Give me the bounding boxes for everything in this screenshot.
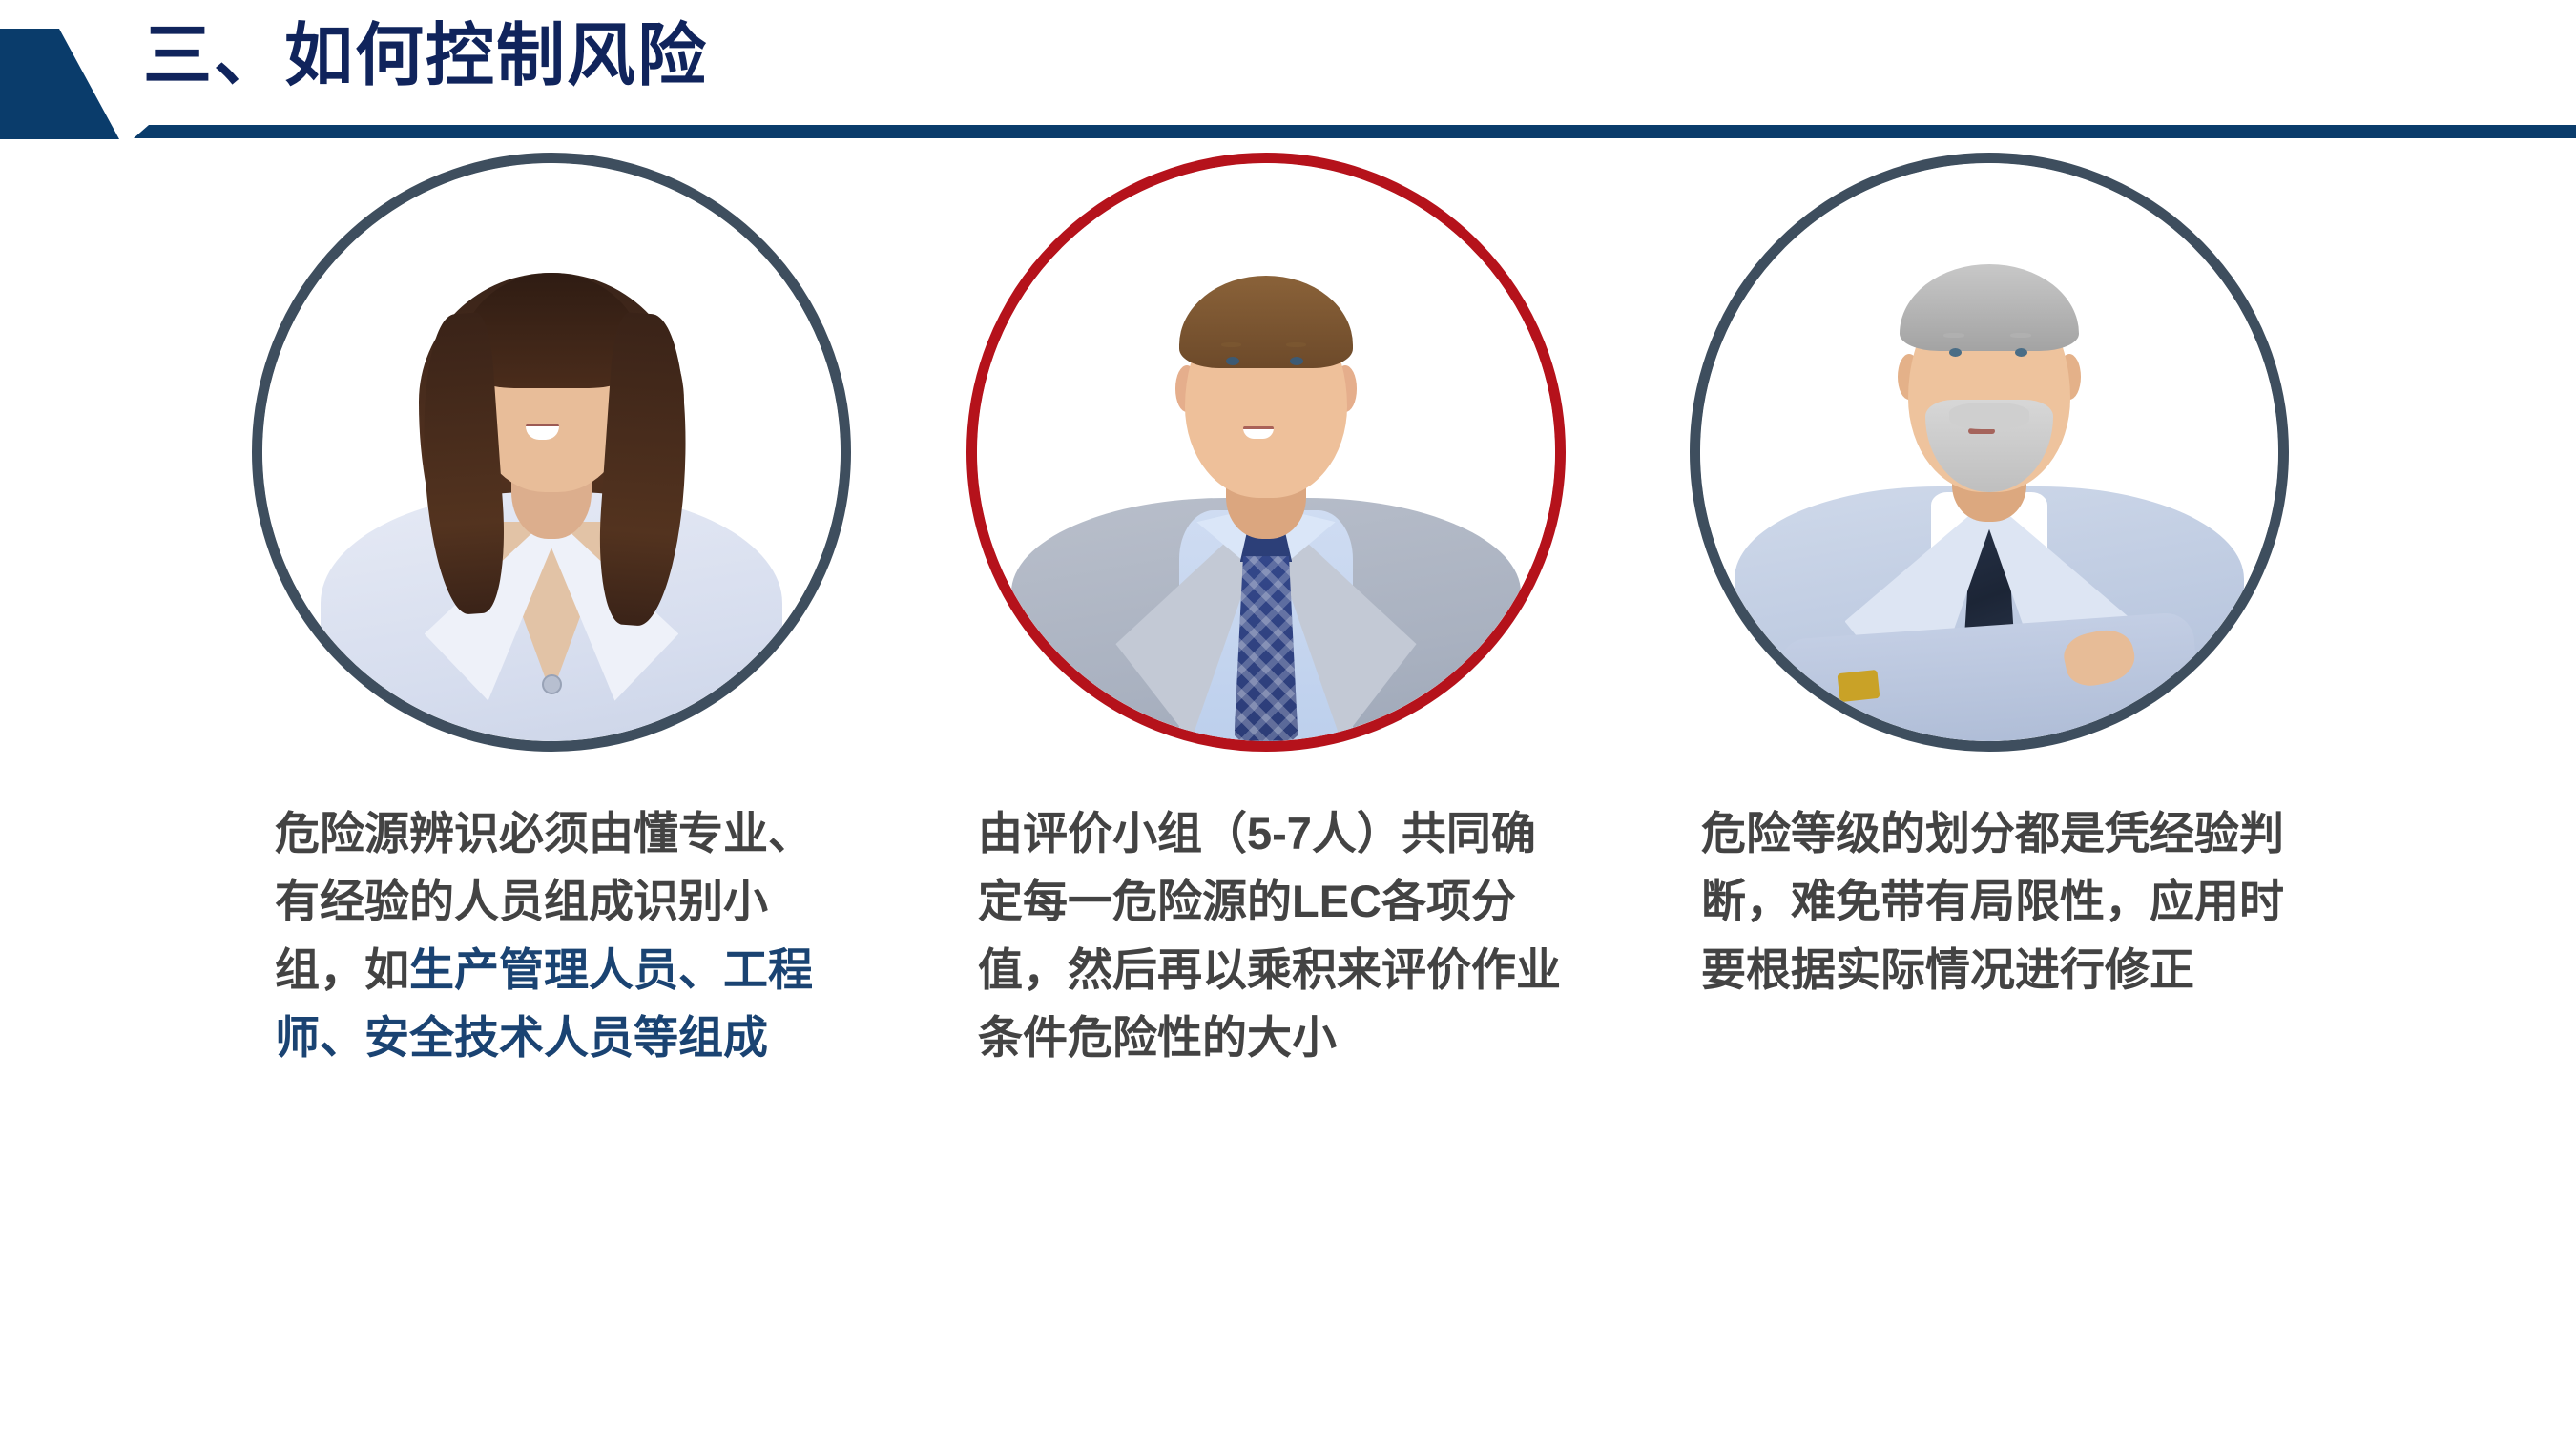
- card-2-caption: 由评价小组（5-7人）共同确定每一危险源的LEC各项分值，然后再以乘积来评价作业…: [978, 799, 1568, 1072]
- slide-header: 三、如何控制风险: [0, 0, 2576, 153]
- caption-plain-text: 危险等级的划分都是凭经验判断，难免带有局限性，应用时要根据实际情况进行修正: [1701, 808, 2284, 995]
- header-divider: [134, 125, 2576, 138]
- card-3: 危险等级的划分都是凭经验判断，难免带有局限性，应用时要根据实际情况进行修正: [1655, 153, 2323, 1003]
- hair: [1900, 264, 2079, 351]
- eye-right: [2015, 348, 2027, 357]
- card-3-caption: 危险等级的划分都是凭经验判断，难免带有局限性，应用时要根据实际情况进行修正: [1701, 799, 2285, 1003]
- eye-left: [1226, 357, 1239, 365]
- avatar-image-2: [977, 163, 1555, 741]
- smiling-mouth: [1243, 426, 1274, 439]
- mustache: [1949, 403, 2030, 428]
- card-2: 由评价小组（5-7人）共同确定每一危险源的LEC各项分值，然后再以乘积来评价作业…: [932, 153, 1600, 1072]
- person-illustration-3: [1700, 163, 2278, 741]
- card-1: 危险源辨识必须由懂专业、有经验的人员组成识别小组，如生产管理人员、工程师、安全技…: [218, 153, 885, 1072]
- caption-plain-text: 由评价小组（5-7人）共同确定每一危险源的LEC各项分值，然后再以乘积来评价作业…: [978, 808, 1561, 1063]
- eyebrow-right: [1286, 342, 1306, 347]
- plaid-tie: [1235, 556, 1298, 741]
- hair: [1179, 276, 1353, 368]
- eyebrow-left: [1221, 342, 1241, 347]
- avatar-businesswoman: [252, 153, 851, 752]
- header-corner-shape: [0, 29, 119, 139]
- wristwatch: [1838, 670, 1880, 703]
- avatar-image-1: [262, 163, 841, 741]
- avatar-image-3: [1700, 163, 2278, 741]
- card-row: 危险源辨识必须由懂专业、有经验的人员组成识别小组，如生产管理人员、工程师、安全技…: [0, 153, 2576, 1448]
- person-illustration-1: [262, 163, 841, 741]
- eye-left: [1949, 348, 1962, 357]
- card-1-caption: 危险源辨识必须由懂专业、有经验的人员组成识别小组，如生产管理人员、工程师、安全技…: [275, 799, 842, 1072]
- page-title: 三、如何控制风险: [143, 13, 708, 99]
- eyebrow-left: [1943, 333, 1964, 338]
- eyebrow-right: [2010, 333, 2031, 338]
- person-illustration-2: [977, 163, 1555, 741]
- avatar-senior-businessman: [1690, 153, 2289, 752]
- avatar-young-businessman: [966, 153, 1566, 752]
